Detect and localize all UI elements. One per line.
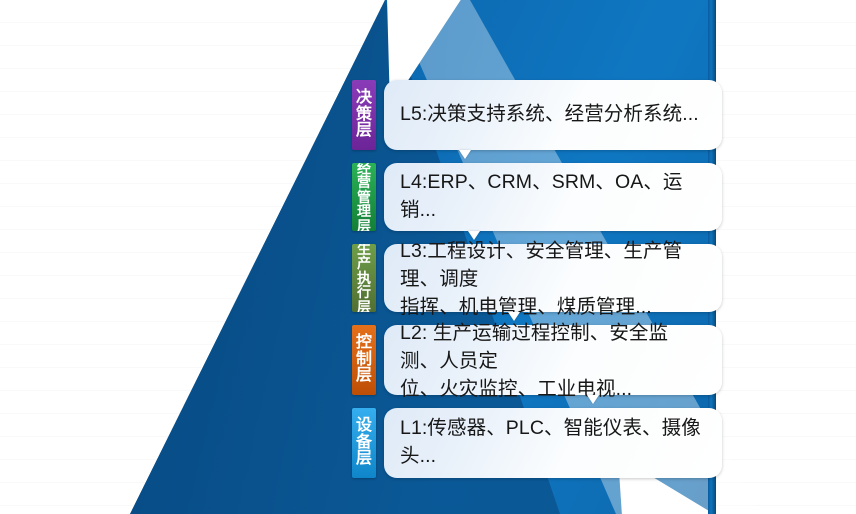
level-tab-decision[interactable]: 决 策 层	[352, 80, 376, 150]
level-row-l5[interactable]: 决 策 层 L5:决策支持系统、经营分析系统...	[352, 80, 722, 150]
tab-char: 层	[356, 451, 372, 468]
level-card-text: L5:决策支持系统、经营分析系统...	[400, 101, 699, 129]
tab-char: 决	[356, 90, 372, 107]
level-row-l2[interactable]: 控 制 层 L2: 生产运输过程控制、安全监测、人员定 位、火灾监控、工业电视.…	[352, 325, 722, 395]
level-row-l1[interactable]: 设 备 层 L1:传感器、PLC、智能仪表、摄像头...	[352, 408, 722, 478]
tab-char: 管	[357, 190, 371, 205]
level-tab-production-execution[interactable]: 生 产 执 行 层	[352, 244, 376, 312]
tab-char: 层	[357, 300, 371, 312]
level-card-textblock: L3:工程设计、安全管理、生产管理、调度 指挥、机电管理、煤质管理...	[400, 238, 706, 321]
level-card-textblock: L2: 生产运输过程控制、安全监测、人员定 位、火灾监控、工业电视...	[400, 320, 706, 403]
tab-char: 执	[357, 271, 371, 286]
level-tab-business-management[interactable]: 经 营 管 理 层	[352, 163, 376, 231]
triangle-down-icon	[459, 150, 471, 159]
level-card-l3[interactable]: L3:工程设计、安全管理、生产管理、调度 指挥、机电管理、煤质管理...	[384, 244, 722, 312]
level-card-text-line: L2: 生产运输过程控制、安全监测、人员定	[400, 320, 706, 375]
tab-char: 产	[357, 256, 371, 271]
level-tab-equipment[interactable]: 设 备 层	[352, 408, 376, 478]
tab-char: 设	[356, 418, 372, 435]
level-card-text: L1:传感器、PLC、智能仪表、摄像头...	[400, 415, 706, 470]
tab-char: 备	[356, 435, 372, 452]
level-tab-control[interactable]: 控 制 层	[352, 325, 376, 395]
tab-char: 行	[357, 285, 371, 300]
tab-char: 制	[356, 352, 372, 369]
pyramid-architecture-diagram: 决 策 层 L5:决策支持系统、经营分析系统... 经 营 管 理 层 L4:E…	[0, 0, 856, 514]
level-card-l1[interactable]: L1:传感器、PLC、智能仪表、摄像头...	[384, 408, 722, 478]
level-card-l5[interactable]: L5:决策支持系统、经营分析系统...	[384, 80, 722, 150]
level-row-l3[interactable]: 生 产 执 行 层 L3:工程设计、安全管理、生产管理、调度 指挥、机电管理、煤…	[352, 244, 722, 312]
tab-char: 层	[357, 219, 371, 231]
level-card-l4[interactable]: L4:ERP、CRM、SRM、OA、运销...	[384, 163, 722, 231]
tab-char: 营	[357, 175, 371, 190]
level-card-l2[interactable]: L2: 生产运输过程控制、安全监测、人员定 位、火灾监控、工业电视...	[384, 325, 722, 395]
tab-char: 策	[356, 107, 372, 124]
triangle-down-icon	[587, 395, 599, 404]
level-card-text-line: L3:工程设计、安全管理、生产管理、调度	[400, 238, 706, 293]
level-card-text-line: 位、火灾监控、工业电视...	[400, 376, 706, 404]
tab-char: 层	[356, 123, 372, 140]
level-card-text: L4:ERP、CRM、SRM、OA、运销...	[400, 169, 706, 224]
tab-char: 层	[356, 368, 372, 385]
tab-char: 控	[356, 335, 372, 352]
tab-char: 理	[357, 204, 371, 219]
level-card-text-line: 指挥、机电管理、煤质管理...	[400, 294, 706, 322]
level-row-l4[interactable]: 经 营 管 理 层 L4:ERP、CRM、SRM、OA、运销...	[352, 163, 722, 231]
